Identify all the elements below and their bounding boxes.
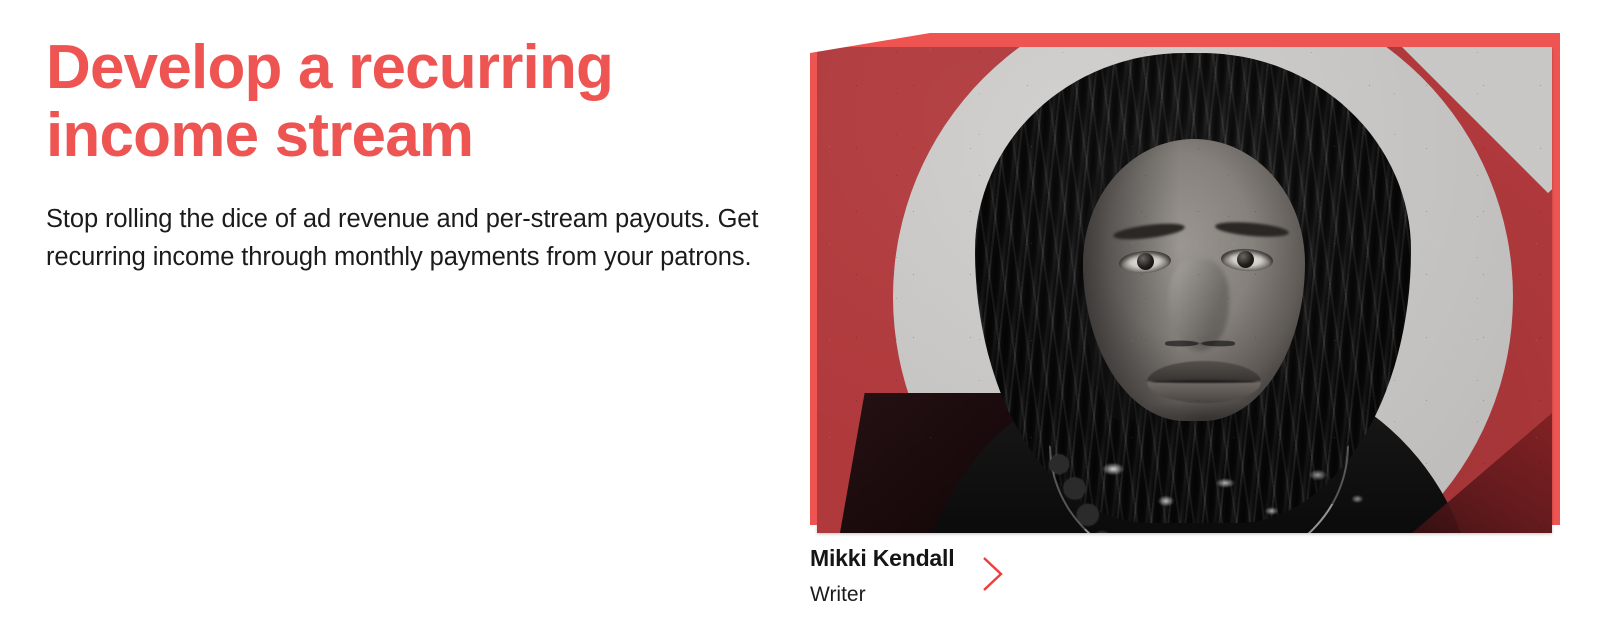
- creator-media-card[interactable]: [810, 33, 1560, 525]
- portrait-chin-shadow: [1135, 399, 1271, 439]
- creator-role: Writer: [810, 582, 954, 608]
- portrait-figure: [817, 47, 1552, 533]
- hero-subcopy: Stop rolling the dice of ad revenue and …: [46, 200, 791, 276]
- hero-copy-column: Develop a recurring income stream Stop r…: [46, 34, 796, 276]
- page-title: Develop a recurring income stream: [46, 34, 786, 170]
- creator-photo: [817, 47, 1552, 533]
- portrait-dappled-light: [1067, 439, 1397, 533]
- hero-section: Develop a recurring income stream Stop r…: [0, 0, 1600, 638]
- creator-name: Mikki Kendall: [810, 543, 954, 573]
- coral-edge-top: [810, 33, 1560, 47]
- creator-caption-text: Mikki Kendall Writer: [810, 543, 954, 608]
- coral-edge-left: [810, 33, 817, 525]
- portrait-pupil-left: [1137, 253, 1154, 270]
- chevron-right-icon[interactable]: [980, 554, 1006, 594]
- portrait-lip-line: [1151, 380, 1257, 383]
- portrait-pupil-right: [1237, 251, 1254, 268]
- portrait-nostrils: [1165, 335, 1235, 352]
- creator-caption[interactable]: Mikki Kendall Writer: [810, 543, 1230, 608]
